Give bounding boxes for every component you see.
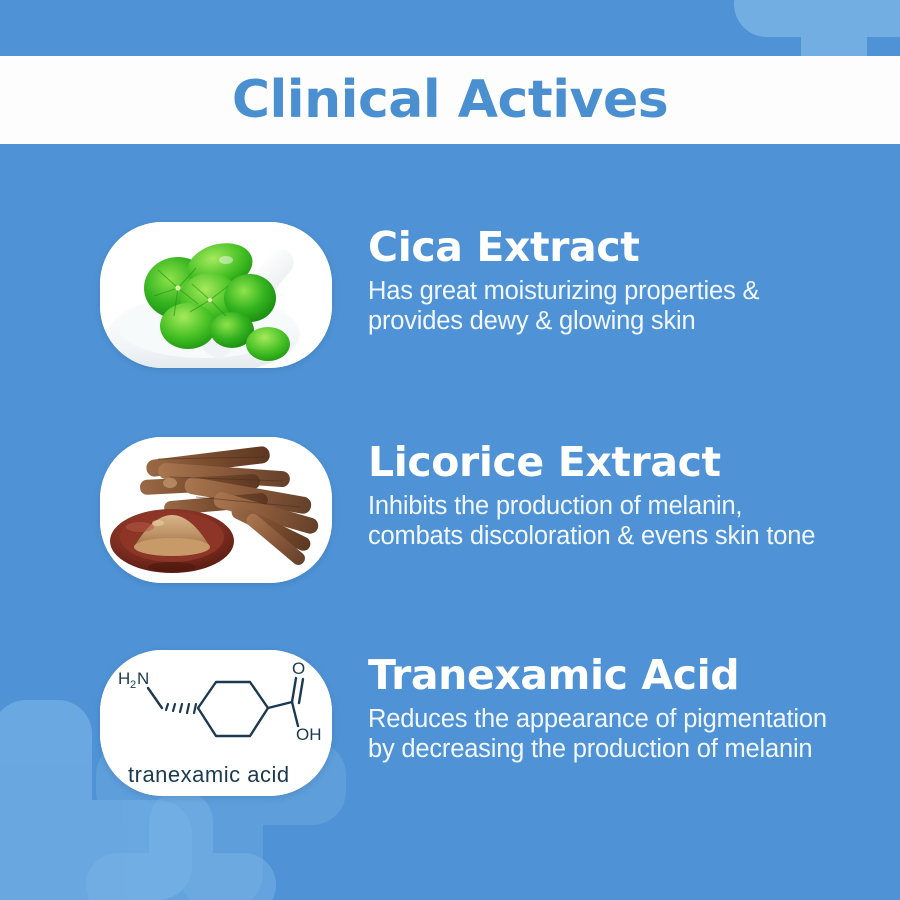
item-text-column: Tranexamic Acid Reduces the appearance o…: [332, 650, 827, 764]
page-title: Clinical Actives: [232, 70, 668, 130]
svg-text:OH: OH: [296, 725, 322, 744]
item-title: Tranexamic Acid: [368, 654, 827, 697]
list-item: H 2 N O OH tranexamic acid Tranexamic Ac…: [100, 650, 872, 796]
tranexamic-acid-structure-diagram: H 2 N O OH tranexamic acid: [100, 650, 332, 796]
item-description: Inhibits the production of melanin, comb…: [368, 491, 815, 551]
poster-canvas: Clinical Actives: [0, 0, 900, 900]
svg-text:O: O: [292, 659, 305, 678]
list-item: Licorice Extract Inhibits the production…: [100, 437, 872, 583]
item-title: Licorice Extract: [368, 441, 815, 484]
item-title: Cica Extract: [368, 226, 759, 269]
header-band: Clinical Actives: [0, 56, 900, 144]
item-text-column: Licorice Extract Inhibits the production…: [332, 437, 815, 551]
item-description: Reduces the appearance of pigmentation b…: [368, 704, 827, 764]
licorice-root-powder-bowl-photo: [100, 437, 332, 583]
svg-text:tranexamic acid: tranexamic acid: [128, 762, 290, 787]
plus-shape-bottom-left-small-icon: [86, 790, 276, 900]
svg-text:H: H: [118, 669, 130, 688]
list-item: Cica Extract Has great moisturizing prop…: [100, 222, 872, 368]
item-description: Has great moisturizing properties & prov…: [368, 276, 759, 336]
cica-leaves-mortar-pestle-photo: [100, 222, 332, 368]
item-text-column: Cica Extract Has great moisturizing prop…: [332, 222, 759, 336]
svg-text:2: 2: [130, 679, 136, 691]
svg-text:N: N: [137, 669, 149, 688]
